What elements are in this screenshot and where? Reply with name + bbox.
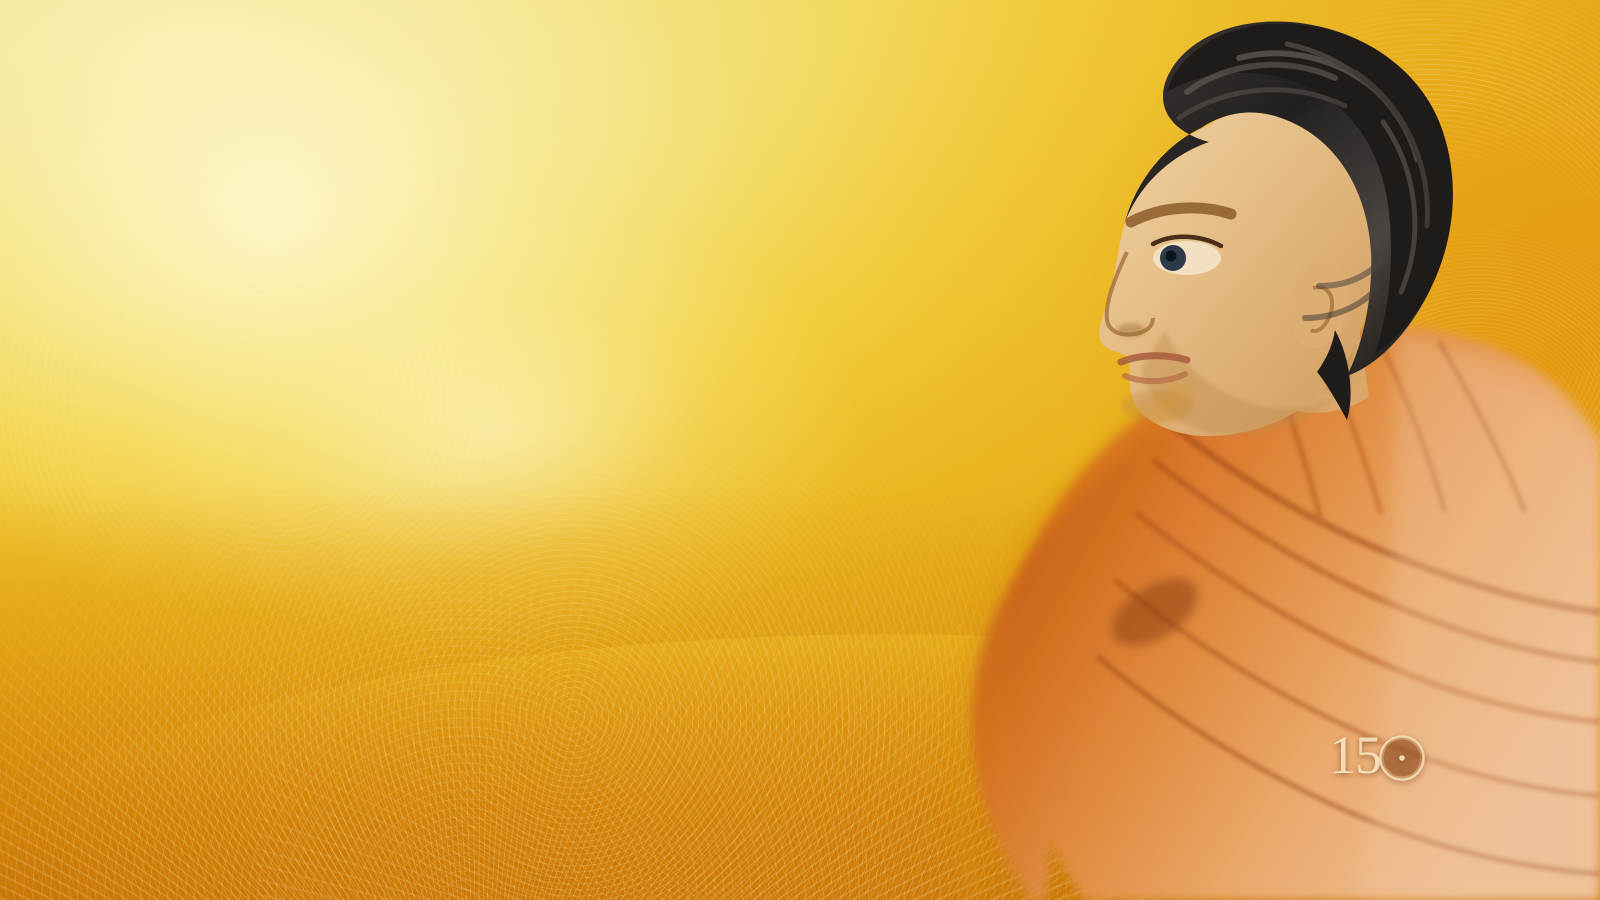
poster-canvas: 15: [0, 0, 1600, 900]
nostril: [1117, 323, 1145, 337]
chakra-wheel-icon: [1379, 735, 1425, 781]
logo-150-row: 15: [1228, 727, 1528, 783]
logo-number: 15: [1329, 728, 1381, 782]
pupil: [1166, 251, 1177, 262]
anniversary-logo: 15: [1228, 727, 1528, 808]
